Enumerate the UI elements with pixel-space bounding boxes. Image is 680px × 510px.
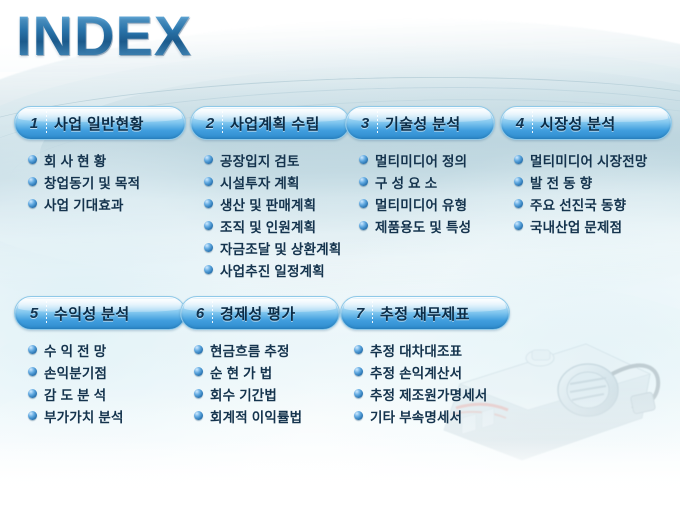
section-3: 3 기술성 분석 멀티미디어 정의 구 성 요 소 멀티미디어 유형 — [345, 106, 495, 251]
section-6-divider — [212, 301, 213, 325]
section-3-list: 멀티미디어 정의 구 성 요 소 멀티미디어 유형 제품용도 및 특성 — [345, 150, 495, 235]
list-item-label: 부가가치 분석 — [44, 406, 124, 426]
list-item-label: 멀티미디어 유형 — [375, 194, 467, 214]
section-7-list: 추정 대차대조표 추정 손익계산서 추정 제조원가명세서 기타 부속명세서 — [340, 340, 510, 425]
list-item[interactable]: 손익분기점 — [28, 362, 186, 381]
list-item-label: 추정 대차대조표 — [370, 340, 462, 360]
bullet-dot-icon — [354, 345, 363, 354]
bullet-dot-icon — [194, 389, 203, 398]
section-2-header[interactable]: 2 사업계획 수립 — [190, 106, 350, 140]
list-item-label: 추정 손익계산서 — [370, 362, 462, 382]
section-7-title: 추정 재무제표 — [380, 303, 470, 324]
bullet-dot-icon — [359, 177, 368, 186]
list-item-label: 국내산업 문제점 — [530, 216, 622, 236]
section-7-number: 7 — [353, 305, 367, 322]
section-7: 7 추정 재무제표 추정 대차대조표 추정 손익계산서 추정 제조원가명세서 — [340, 296, 510, 441]
list-item-label: 멀티미디어 정의 — [375, 150, 467, 170]
bullet-dot-icon — [28, 389, 37, 398]
bullet-dot-icon — [359, 221, 368, 230]
section-4: 4 시장성 분석 멀티미디어 시장전망 발 전 동 향 주요 선진국 동향 — [500, 106, 672, 251]
section-4-title: 시장성 분석 — [540, 113, 616, 134]
section-5-title: 수익성 분석 — [54, 303, 130, 324]
bullet-dot-icon — [204, 177, 213, 186]
section-2-list: 공장입지 검토 시설투자 계획 생산 및 판매계획 조직 및 인원계획 자금조달… — [190, 150, 350, 279]
bullet-dot-icon — [514, 155, 523, 164]
bullet-dot-icon — [28, 199, 37, 208]
bullet-dot-icon — [28, 411, 37, 420]
list-item[interactable]: 수 익 전 망 — [28, 340, 186, 359]
section-4-list: 멀티미디어 시장전망 발 전 동 향 주요 선진국 동향 국내산업 문제점 — [500, 150, 672, 235]
list-item-label: 회수 기간법 — [210, 384, 277, 404]
list-item[interactable]: 부가가치 분석 — [28, 406, 186, 425]
section-5: 5 수익성 분석 수 익 전 망 손익분기점 감 도 분 석 — [14, 296, 186, 441]
list-item-label: 사업추진 일정계획 — [220, 260, 325, 280]
list-item-label: 발 전 동 향 — [530, 172, 592, 192]
list-item-label: 감 도 분 석 — [44, 384, 106, 404]
section-4-divider — [532, 111, 533, 135]
list-item-label: 창업동기 및 목적 — [44, 172, 140, 192]
bullet-dot-icon — [28, 345, 37, 354]
list-item[interactable]: 사업추진 일정계획 — [204, 260, 350, 279]
section-5-divider — [46, 301, 47, 325]
list-item[interactable]: 공장입지 검토 — [204, 150, 350, 169]
section-5-list: 수 익 전 망 손익분기점 감 도 분 석 부가가치 분석 — [14, 340, 186, 425]
bullet-dot-icon — [354, 411, 363, 420]
section-3-number: 3 — [358, 115, 372, 132]
list-item[interactable]: 멀티미디어 정의 — [359, 150, 495, 169]
section-6: 6 경제성 평가 현금흐름 추정 순 현 가 법 회수 기간법 — [180, 296, 340, 441]
list-item[interactable]: 회 사 현 황 — [28, 150, 186, 169]
background-bottom-fade — [0, 440, 680, 510]
list-item[interactable]: 제품용도 및 특성 — [359, 216, 495, 235]
section-3-header[interactable]: 3 기술성 분석 — [345, 106, 495, 140]
list-item[interactable]: 창업동기 및 목적 — [28, 172, 186, 191]
list-item-label: 구 성 요 소 — [375, 172, 437, 192]
section-6-title: 경제성 평가 — [220, 303, 296, 324]
list-item[interactable]: 사업 기대효과 — [28, 194, 186, 213]
list-item-label: 시설투자 계획 — [220, 172, 300, 192]
bullet-dot-icon — [204, 199, 213, 208]
list-item[interactable]: 회수 기간법 — [194, 384, 340, 403]
list-item[interactable]: 발 전 동 향 — [514, 172, 672, 191]
section-6-header[interactable]: 6 경제성 평가 — [180, 296, 340, 330]
bullet-dot-icon — [514, 177, 523, 186]
list-item[interactable]: 조직 및 인원계획 — [204, 216, 350, 235]
section-7-divider — [372, 301, 373, 325]
section-6-list: 현금흐름 추정 순 현 가 법 회수 기간법 회계적 이익률법 — [180, 340, 340, 425]
bullet-dot-icon — [194, 367, 203, 376]
section-2: 2 사업계획 수립 공장입지 검토 시설투자 계획 생산 및 판매계획 — [190, 106, 350, 295]
bullet-dot-icon — [514, 221, 523, 230]
list-item[interactable]: 주요 선진국 동향 — [514, 194, 672, 213]
list-item-label: 기타 부속명세서 — [370, 406, 462, 426]
list-item[interactable]: 구 성 요 소 — [359, 172, 495, 191]
section-1-divider — [46, 111, 47, 135]
list-item-label: 멀티미디어 시장전망 — [530, 150, 648, 170]
list-item[interactable]: 멀티미디어 유형 — [359, 194, 495, 213]
list-item-label: 공장입지 검토 — [220, 150, 300, 170]
list-item-label: 주요 선진국 동향 — [530, 194, 626, 214]
section-5-header[interactable]: 5 수익성 분석 — [14, 296, 186, 330]
list-item-label: 회계적 이익률법 — [210, 406, 302, 426]
list-item-label: 생산 및 판매계획 — [220, 194, 316, 214]
bullet-dot-icon — [514, 199, 523, 208]
bullet-dot-icon — [359, 199, 368, 208]
section-1: 1 사업 일반현황 회 사 현 황 창업동기 및 목적 사업 기대효과 — [14, 106, 186, 229]
bullet-dot-icon — [204, 155, 213, 164]
list-item-label: 제품용도 및 특성 — [375, 216, 471, 236]
bullet-dot-icon — [28, 155, 37, 164]
section-1-list: 회 사 현 황 창업동기 및 목적 사업 기대효과 — [14, 150, 186, 213]
list-item[interactable]: 현금흐름 추정 — [194, 340, 340, 359]
bullet-dot-icon — [194, 345, 203, 354]
section-7-header[interactable]: 7 추정 재무제표 — [340, 296, 510, 330]
page-title: INDEX — [16, 8, 192, 64]
list-item[interactable]: 멀티미디어 시장전망 — [514, 150, 672, 169]
section-3-divider — [377, 111, 378, 135]
list-item[interactable]: 시설투자 계획 — [204, 172, 350, 191]
list-item[interactable]: 순 현 가 법 — [194, 362, 340, 381]
bullet-dot-icon — [354, 389, 363, 398]
list-item[interactable]: 추정 손익계산서 — [354, 362, 510, 381]
list-item[interactable]: 추정 제조원가명세서 — [354, 384, 510, 403]
bullet-dot-icon — [354, 367, 363, 376]
section-4-header[interactable]: 4 시장성 분석 — [500, 106, 672, 140]
section-5-number: 5 — [27, 305, 41, 322]
list-item[interactable]: 자금조달 및 상환계획 — [204, 238, 350, 257]
list-item[interactable]: 생산 및 판매계획 — [204, 194, 350, 213]
list-item[interactable]: 기타 부속명세서 — [354, 406, 510, 425]
list-item-label: 손익분기점 — [44, 362, 107, 382]
list-item[interactable]: 회계적 이익률법 — [194, 406, 340, 425]
section-1-header[interactable]: 1 사업 일반현황 — [14, 106, 186, 140]
section-2-title: 사업계획 수립 — [230, 113, 320, 134]
list-item-label: 현금흐름 추정 — [210, 340, 290, 360]
list-item-label: 추정 제조원가명세서 — [370, 384, 488, 404]
list-item-label: 조직 및 인원계획 — [220, 216, 316, 236]
index-slide: INDEX INDEX 1 사업 일반현황 회 사 현 황 창업동기 및 목적 — [0, 0, 680, 510]
list-item[interactable]: 추정 대차대조표 — [354, 340, 510, 359]
section-1-number: 1 — [27, 115, 41, 132]
list-item[interactable]: 감 도 분 석 — [28, 384, 186, 403]
section-2-number: 2 — [203, 115, 217, 132]
section-4-number: 4 — [513, 115, 527, 132]
list-item-label: 회 사 현 황 — [44, 150, 106, 170]
list-item-label: 자금조달 및 상환계획 — [220, 238, 341, 258]
list-item[interactable]: 국내산업 문제점 — [514, 216, 672, 235]
bullet-dot-icon — [359, 155, 368, 164]
bullet-dot-icon — [204, 243, 213, 252]
section-1-title: 사업 일반현황 — [54, 113, 144, 134]
bullet-dot-icon — [204, 221, 213, 230]
list-item-label: 순 현 가 법 — [210, 362, 272, 382]
list-item-label: 사업 기대효과 — [44, 194, 124, 214]
section-6-number: 6 — [193, 305, 207, 322]
bullet-dot-icon — [28, 177, 37, 186]
bullet-dot-icon — [204, 265, 213, 274]
section-2-divider — [222, 111, 223, 135]
bullet-dot-icon — [194, 411, 203, 420]
list-item-label: 수 익 전 망 — [44, 340, 106, 360]
section-3-title: 기술성 분석 — [385, 113, 461, 134]
bullet-dot-icon — [28, 367, 37, 376]
